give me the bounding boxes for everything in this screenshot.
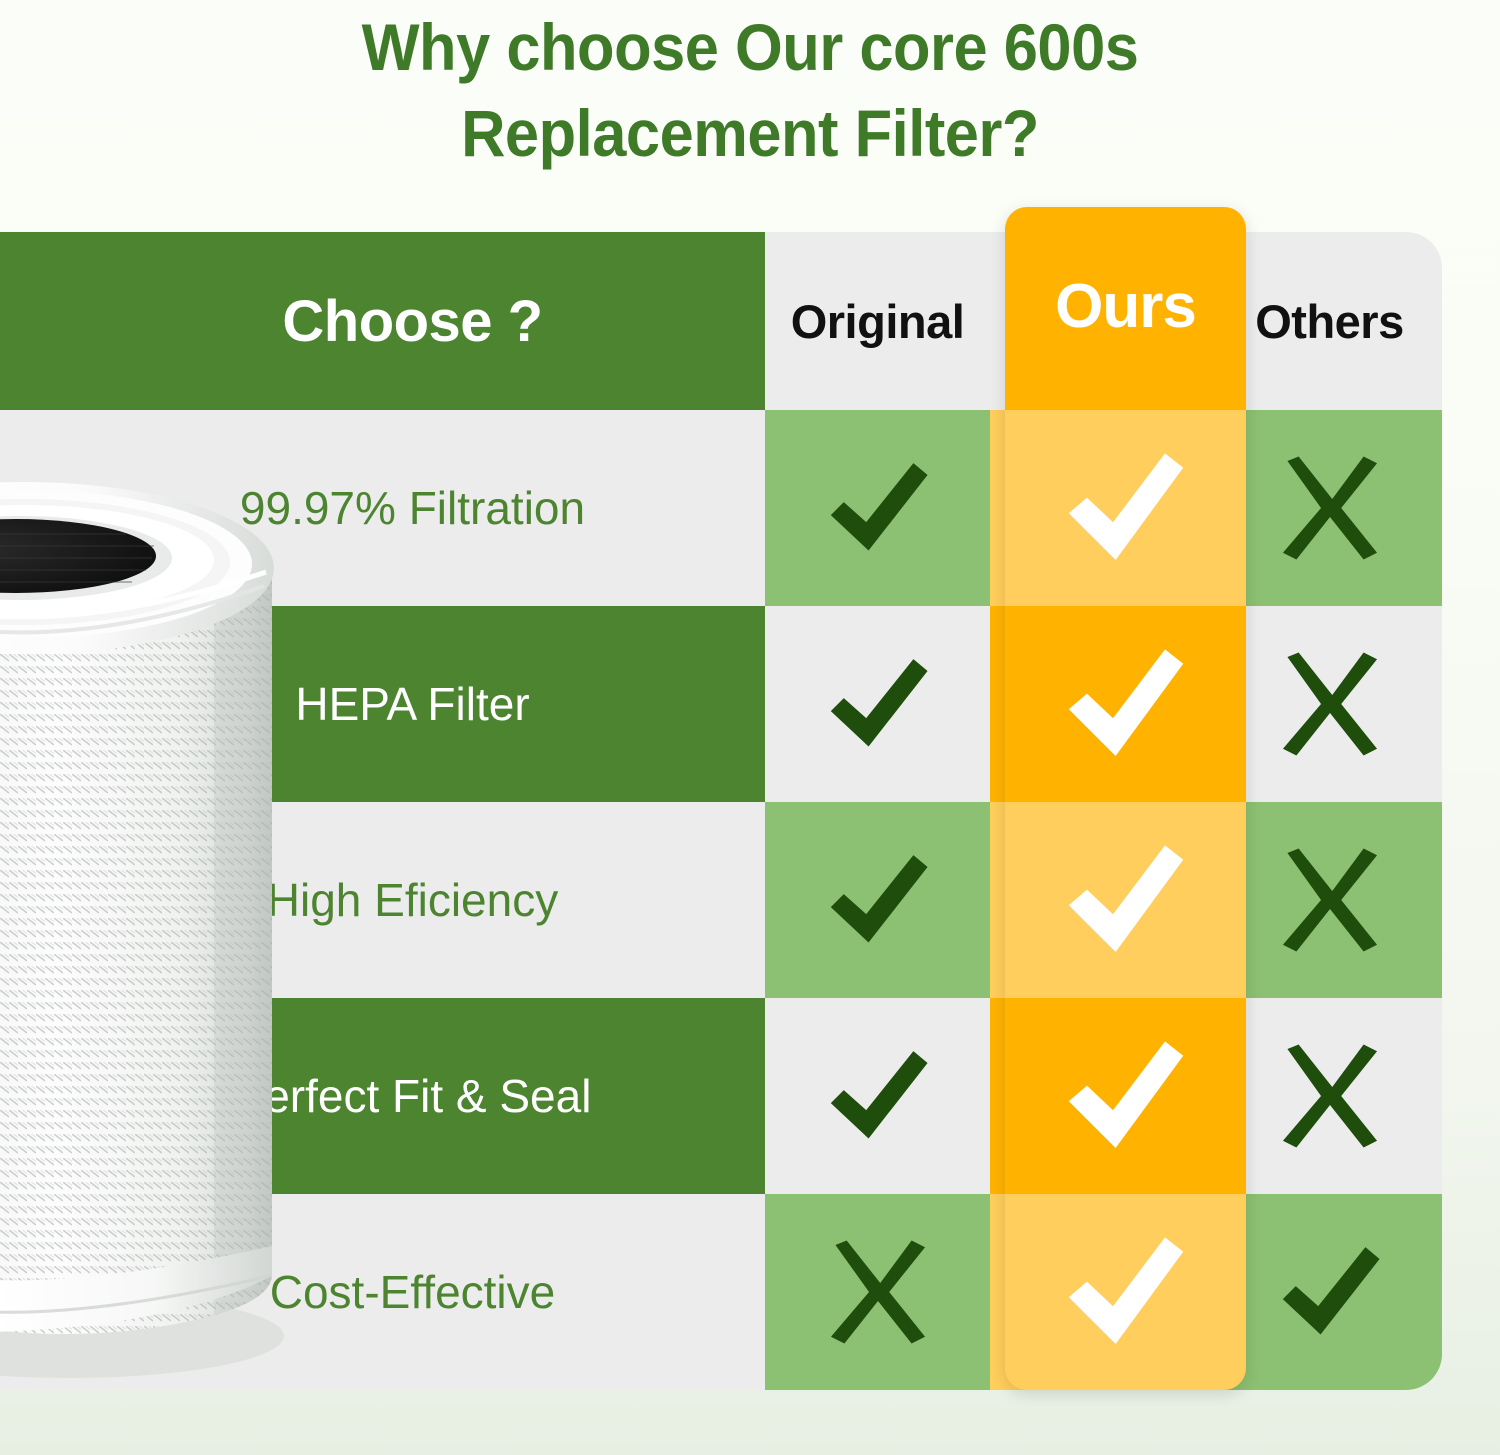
row-label: Cost-Effective — [60, 1265, 765, 1319]
header-label-cell: Choose ? — [0, 232, 765, 410]
cross-icon — [822, 1236, 934, 1348]
row-label-cell: 99.97% Filtration — [0, 410, 765, 606]
cell-others — [1217, 802, 1442, 998]
table-header-row: Choose ? Original Others — [0, 232, 1442, 410]
header-others-label: Others — [1255, 294, 1404, 349]
cell-others — [1217, 606, 1442, 802]
header-cell-original: Original — [765, 232, 990, 410]
cell-original — [765, 606, 990, 802]
cell-original — [765, 802, 990, 998]
cell-others — [1217, 998, 1442, 1194]
table-row: HEPA Filter — [0, 606, 1442, 802]
check-icon — [1271, 1233, 1389, 1351]
header-cell-ours — [990, 232, 1217, 410]
row-label: Perfect Fit & Seal — [60, 1069, 765, 1123]
header-cell-others: Others — [1217, 232, 1442, 410]
cross-icon — [1274, 648, 1386, 760]
cross-icon — [1274, 844, 1386, 956]
page-title: Why choose Our core 600s Replacement Fil… — [53, 4, 1448, 176]
check-icon — [819, 841, 937, 959]
cell-others — [1217, 1194, 1442, 1390]
cell-others — [1217, 410, 1442, 606]
cell-ours — [990, 998, 1217, 1194]
cell-ours — [990, 410, 1217, 606]
row-label-cell: Perfect Fit & Seal — [0, 998, 765, 1194]
cross-icon — [1274, 1040, 1386, 1152]
row-label: HEPA Filter — [60, 677, 765, 731]
row-label: High Eficiency — [60, 873, 765, 927]
header-choose-label: Choose ? — [60, 288, 765, 355]
row-label-cell: Cost-Effective — [0, 1194, 765, 1390]
cell-original — [765, 410, 990, 606]
cell-ours — [990, 1194, 1217, 1390]
cell-original — [765, 1194, 990, 1390]
row-label-cell: HEPA Filter — [0, 606, 765, 802]
header-original-label: Original — [791, 294, 965, 349]
cross-icon — [1274, 452, 1386, 564]
check-icon — [819, 1037, 937, 1155]
cell-ours — [990, 606, 1217, 802]
table-row: Cost-Effective — [0, 1194, 1442, 1390]
table-row: High Eficiency — [0, 802, 1442, 998]
table-row: Perfect Fit & Seal — [0, 998, 1442, 1194]
row-label: 99.97% Filtration — [60, 481, 765, 535]
row-label-cell: High Eficiency — [0, 802, 765, 998]
comparison-table: Choose ? Original Others 99.97% Filtrati… — [0, 232, 1442, 1390]
table-row: 99.97% Filtration — [0, 410, 1442, 606]
cell-original — [765, 998, 990, 1194]
check-icon — [819, 449, 937, 567]
cell-ours — [990, 802, 1217, 998]
check-icon — [819, 645, 937, 763]
